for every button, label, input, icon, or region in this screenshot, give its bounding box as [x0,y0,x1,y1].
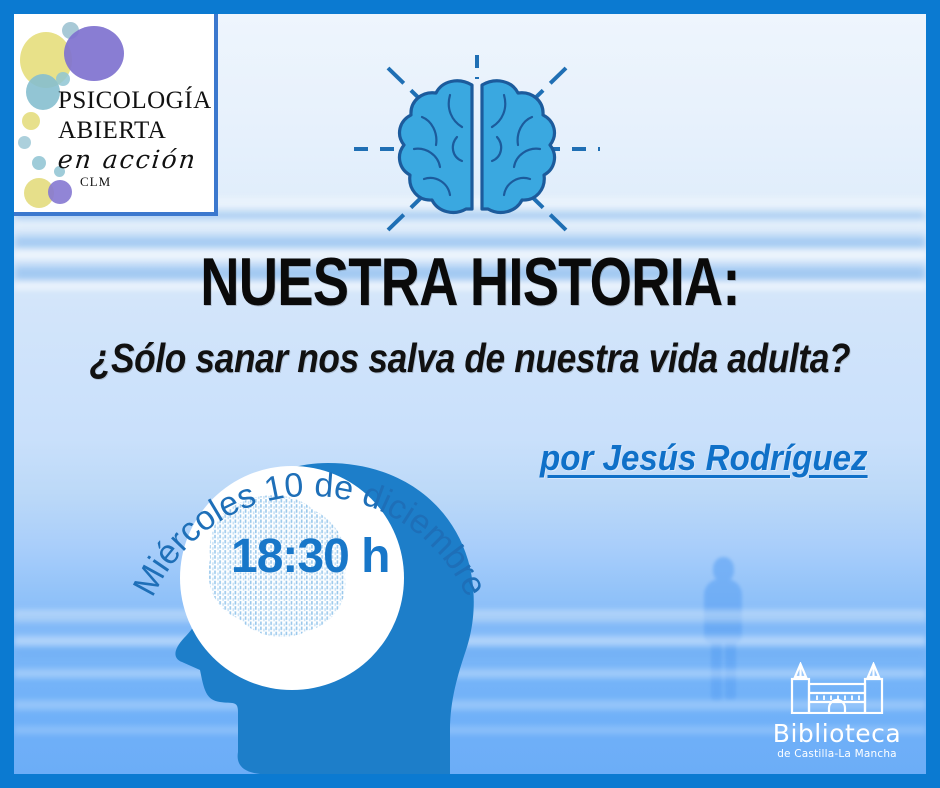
library-logo: Biblioteca de Castilla-La Mancha [762,662,912,762]
library-subtitle: de Castilla-La Mancha [762,748,912,760]
logo-blob [56,72,70,86]
page-title: NUESTRA HISTORIA: [94,243,846,321]
logo-clm: CLM [80,174,216,190]
logo-blob [22,112,40,130]
speaker-name: por Jesús Rodríguez [540,437,868,479]
logo-blob [26,74,60,110]
logo-line-abierta: ABIERTA [58,116,216,146]
organization-logo: PSICOLOGÍA ABIERTA en acción CLM [10,10,218,216]
frame-bottom [0,774,940,788]
poster-canvas: NUESTRA HISTORIA: ¿Sólo sanar nos salva … [0,0,940,788]
frame-top [0,0,940,14]
frame-right [926,0,940,788]
event-time: 18:30 h [231,529,389,584]
page-subtitle: ¿Sólo sanar nos salva de nuestra vida ad… [66,335,874,382]
logo-blob [32,156,46,170]
frame-left [0,0,14,788]
library-name: Biblioteca [762,721,912,747]
alcazar-building-icon [762,662,912,714]
logo-blob [64,26,124,81]
logo-script-en-accion: en acción [57,147,218,173]
logo-line-psicologia: PSICOLOGÍA [58,86,216,116]
logo-blob [18,136,31,149]
person-silhouette [700,557,746,702]
brain-icon [352,45,602,245]
head-graphic: Miércoles 10 de diciembre [120,400,540,788]
